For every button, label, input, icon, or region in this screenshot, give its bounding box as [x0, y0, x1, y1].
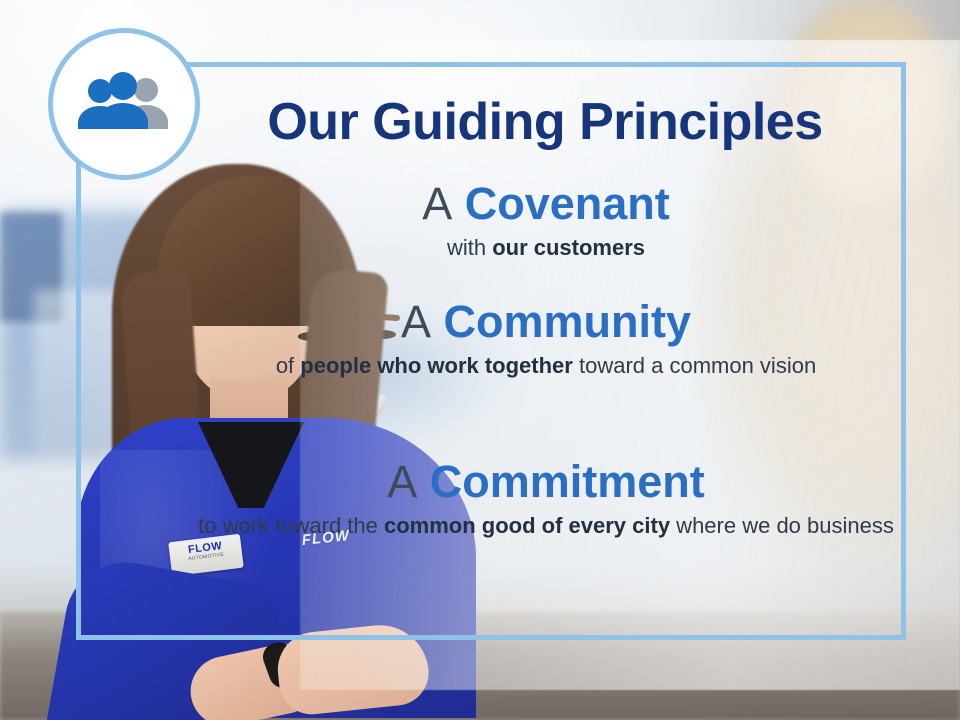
- people-group-icon: [76, 70, 172, 139]
- people-badge: [48, 28, 200, 180]
- principle-community: A Community of people who work together …: [196, 298, 896, 381]
- keyword-community: Community: [444, 296, 692, 347]
- covenant-sub-part-2: our customers: [492, 235, 645, 260]
- commitment-sub-part-3: where we do business: [670, 513, 894, 538]
- community-sub-part-1: of: [276, 353, 300, 378]
- page-title: Our Guiding Principles: [205, 96, 885, 148]
- principle-covenant: A Covenant with our customers: [196, 180, 896, 263]
- community-sub-part-2: people who work together: [300, 353, 573, 378]
- principle-commitment-heading: A Commitment: [196, 458, 896, 505]
- community-sub-part-3: toward a common vision: [573, 353, 816, 378]
- article-3: A: [387, 456, 417, 507]
- principle-commitment: A Commitment to work toward the common g…: [196, 458, 896, 541]
- article-2: A: [401, 296, 431, 347]
- principle-community-subtext: of people who work together toward a com…: [196, 351, 896, 381]
- covenant-sub-part-1: with: [447, 235, 492, 260]
- commitment-sub-part-1: to work toward the: [198, 513, 384, 538]
- commitment-sub-part-2: common good of every city: [384, 513, 670, 538]
- principle-covenant-heading: A Covenant: [196, 180, 896, 227]
- principle-covenant-subtext: with our customers: [196, 233, 896, 263]
- principle-commitment-subtext: to work toward the common good of every …: [196, 511, 896, 541]
- article-1: A: [422, 178, 452, 229]
- keyword-covenant: Covenant: [465, 178, 670, 229]
- keyword-commitment: Commitment: [430, 456, 705, 507]
- image-canvas: FLOW AUTOMOTIVE FLOW Our Gu: [0, 0, 960, 720]
- principle-community-heading: A Community: [196, 298, 896, 345]
